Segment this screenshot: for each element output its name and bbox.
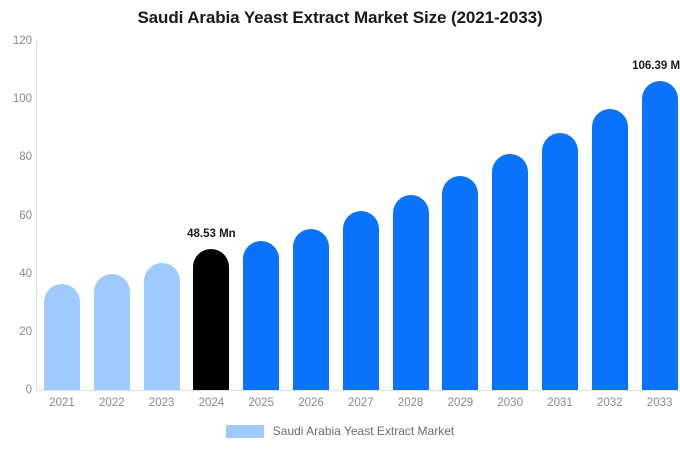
bar-2027[interactable] [343,211,379,390]
bar-chart: Saudi Arabia Yeast Extract Market Size (… [0,0,680,450]
bar-2025[interactable] [243,241,279,390]
x-axis-tick-label-2033: 2033 [630,397,680,409]
legend-label: Saudi Arabia Yeast Extract Market [273,424,454,438]
chart-legend: Saudi Arabia Yeast Extract Market [0,424,680,438]
bar-2022[interactable] [94,274,130,390]
bar-2033[interactable] [642,81,678,390]
bar-2030[interactable] [492,154,528,390]
bar-2024[interactable] [193,249,229,390]
bars-layer: 2021202220232024202520262027202820292030… [0,0,680,450]
bar-2023[interactable] [144,263,180,390]
bar-2021[interactable] [44,284,80,390]
bar-2032[interactable] [592,109,628,390]
bar-2031[interactable] [542,133,578,390]
bar-2026[interactable] [293,229,329,390]
bar-value-label-2033: 106.39 Mn [630,60,680,72]
bar-value-label-2024: 48.53 Mn [181,228,241,240]
bar-2029[interactable] [442,176,478,390]
bar-2028[interactable] [393,195,429,390]
legend-swatch [226,425,264,438]
